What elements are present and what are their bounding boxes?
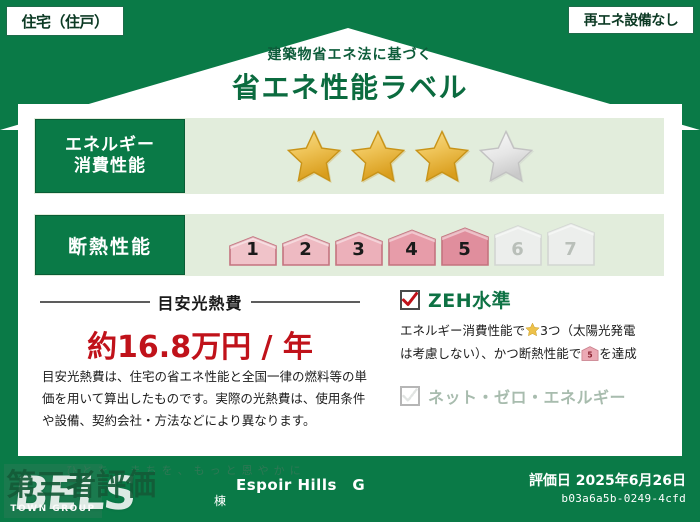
zeh-checkbox[interactable] — [400, 290, 420, 310]
town-group-logo: TOWN GROUP — [4, 464, 102, 518]
svg-text:5: 5 — [588, 351, 593, 360]
utility-cost-disclaimer: 目安光熱費は、住宅の省エネ性能と全国一律の燃料等の単価を用いて算出したものです。… — [42, 366, 372, 432]
utility-cost-title: 目安光熱費 — [158, 290, 243, 314]
inline-star-icon — [525, 322, 540, 343]
star-filled-icon — [349, 128, 407, 184]
energy-performance-label: 住宅（住戸） 再エネ設備なし 建築物省エネ法に基づく 省エネ性能ラベル エネルギ… — [0, 0, 700, 522]
energy-label-line2: 消費性能 — [74, 156, 146, 177]
label-title-block: 建築物省エネ法に基づく 省エネ性能ラベル — [0, 44, 700, 106]
insulation-level-filled: 3 — [334, 223, 384, 267]
badge-dwelling-type: 住宅（住戸） — [6, 6, 124, 36]
zeh-desc-part2: は考慮しない）、かつ断熱性能で — [400, 346, 581, 361]
insulation-scale: 1234567 — [185, 223, 664, 267]
evaluation-id: b03a6a5b-0249-4cfd — [561, 492, 686, 505]
insulation-level-filled: 4 — [387, 223, 437, 267]
content-card: エネルギー 消費性能 断熱性能 1234567 目安光熱費 約16.8万円 / … — [18, 104, 682, 456]
insulation-level-empty: 7 — [546, 223, 596, 267]
net-zero-header: ネット・ゼロ・エネルギー — [400, 384, 672, 408]
town-group-logo-text: TOWN GROUP — [10, 504, 95, 514]
insulation-level-number: 7 — [564, 239, 577, 267]
star-rating — [185, 128, 664, 184]
energy-performance-label-box: エネルギー 消費性能 — [35, 119, 185, 193]
zeh-header: ZEH水準 — [400, 286, 672, 313]
insulation-performance-row: 断熱性能 1234567 — [34, 214, 664, 276]
building-name: Espoir Hills G — [236, 474, 365, 495]
insulation-level-number: 1 — [246, 239, 259, 267]
insulation-level-filled: 1 — [228, 223, 278, 267]
zeh-title: ZEH水準 — [428, 286, 511, 313]
insulation-level-number: 4 — [405, 239, 418, 267]
zeh-desc-stars: 3つ（太陽光発電 — [540, 323, 635, 338]
insulation-level-number: 2 — [299, 239, 312, 267]
net-zero-checkbox[interactable] — [400, 386, 420, 406]
zeh-description: エネルギー消費性能で3つ（太陽光発電は考慮しない）、かつ断熱性能で5を達成 — [400, 320, 672, 368]
badge-renewable-equipment: 再エネ設備なし — [568, 6, 694, 34]
zeh-desc-part3: を達成 — [599, 346, 637, 361]
net-zero-title: ネット・ゼロ・エネルギー — [428, 384, 626, 408]
insulation-level-filled: 2 — [281, 223, 331, 267]
star-empty-icon — [477, 128, 535, 184]
evaluation-date: 評価日 2025年6月26日 — [529, 470, 686, 490]
insulation-level-number: 6 — [511, 239, 524, 267]
rule-left — [40, 301, 150, 303]
certification-panel: ZEH水準 エネルギー消費性能で3つ（太陽光発電は考慮しない）、かつ断熱性能で5… — [400, 286, 672, 408]
energy-performance-row: エネルギー 消費性能 — [34, 118, 664, 194]
star-filled-icon — [413, 128, 471, 184]
utility-cost-value: 約16.8万円 / 年 — [40, 322, 360, 366]
inline-house-icon: 5 — [581, 346, 599, 367]
insulation-level-number: 3 — [352, 239, 365, 267]
insulation-level-filled: 5 — [440, 223, 490, 267]
rule-right — [251, 301, 361, 303]
star-filled-icon — [285, 128, 343, 184]
insulation-level-number: 5 — [458, 239, 471, 267]
title-main: 省エネ性能ラベル — [0, 66, 700, 106]
energy-label-line1: エネルギー — [65, 135, 155, 156]
building-name-suffix: 棟 — [214, 492, 226, 509]
utility-cost-header: 目安光熱費 — [40, 290, 360, 314]
label-footer: TOWN GROUP Espoir Hills G 棟 評価日 2025年6月2… — [0, 460, 700, 522]
title-subtitle: 建築物省エネ法に基づく — [0, 44, 700, 64]
zeh-desc-part1: エネルギー消費性能で — [400, 323, 525, 338]
utility-cost-block: 目安光熱費 約16.8万円 / 年 — [40, 290, 360, 366]
insulation-performance-label-box: 断熱性能 — [35, 215, 185, 275]
insulation-level-empty: 6 — [493, 223, 543, 267]
